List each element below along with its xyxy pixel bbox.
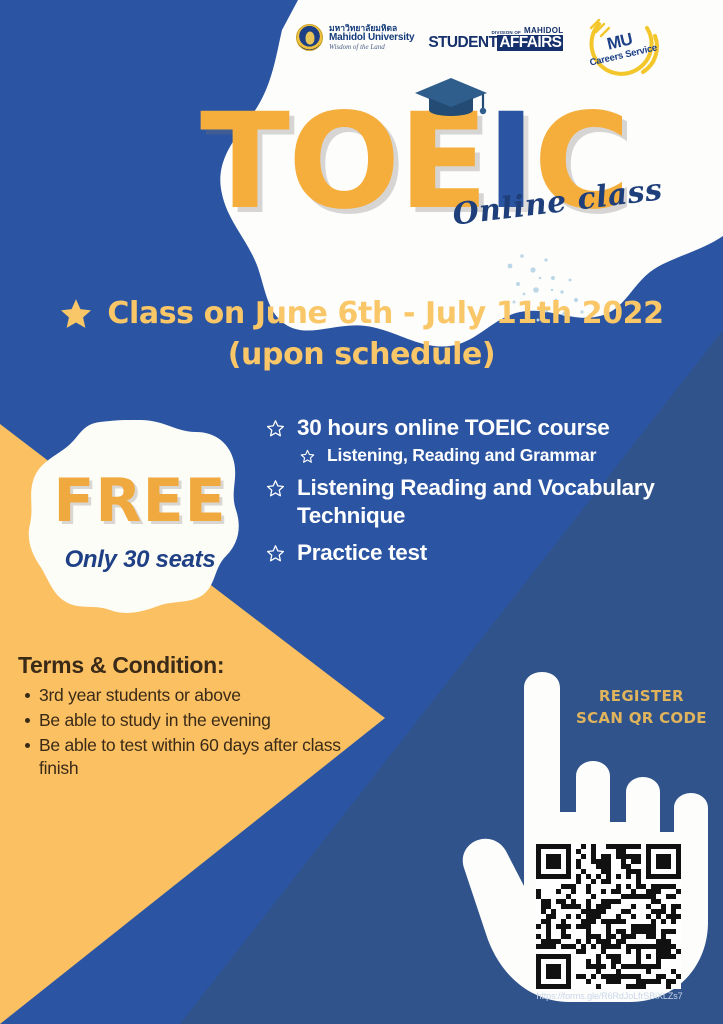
register-line-2: SCAN QR CODE	[576, 708, 707, 730]
feature-list: 30 hours online TOEIC course Listening, …	[266, 414, 712, 571]
qr-code-icon[interactable]	[536, 844, 681, 989]
star-outline-icon	[266, 544, 285, 563]
mu-careers-service-logo: MU Careers Service	[577, 14, 665, 80]
mahidol-english-name: Mahidol University	[329, 33, 414, 44]
schedule-line-1: Class on June 6th - July 11th 2022	[107, 296, 663, 331]
terms-item: Be able to test within 60 days after cla…	[39, 734, 358, 780]
terms-item: Be able to study in the evening	[39, 709, 358, 732]
star-outline-icon	[266, 479, 285, 498]
graduation-cap-icon	[413, 76, 489, 118]
free-badge: FREE Only 30 seats	[24, 418, 256, 618]
star-solid-icon	[59, 297, 93, 331]
feature-item: Listening, Reading and Grammar	[300, 445, 712, 466]
toeic-online-class-poster: มหาวิทยาลัยมหิดล Mahidol University Wisd…	[0, 0, 723, 1024]
terms-heading: Terms & Condition:	[18, 652, 358, 679]
mahidol-university-logo: มหาวิทยาลัยมหิดล Mahidol University Wisd…	[296, 14, 414, 51]
mahidol-seal-icon	[296, 24, 323, 51]
feature-item: Practice test	[266, 539, 712, 566]
free-subline: Only 30 seats	[24, 546, 256, 574]
star-outline-icon	[300, 449, 315, 464]
terms-list: 3rd year students or above Be able to st…	[18, 684, 358, 780]
feature-label: Listening Reading and Vocabulary Techniq…	[297, 474, 712, 529]
toeic-wordmark-block: TOEIC	[0, 96, 723, 246]
terms-block: Terms & Condition: 3rd year students or …	[18, 652, 358, 782]
feature-item: Listening Reading and Vocabulary Techniq…	[266, 474, 712, 529]
register-url[interactable]: https://forms.gle/R6RdJoLfrSBiXLZs7	[496, 991, 723, 1001]
schedule-line-2: (upon schedule)	[0, 337, 723, 372]
feature-label: 30 hours online TOEIC course	[297, 414, 610, 441]
register-line-1: REGISTER	[576, 686, 707, 708]
register-label-block: REGISTER SCAN QR CODE	[576, 686, 707, 730]
feature-item: 30 hours online TOEIC course	[266, 414, 712, 441]
free-headline: FREE	[24, 466, 256, 536]
feature-label: Listening, Reading and Grammar	[327, 445, 596, 466]
mahidol-tagline: Wisdom of the Land	[329, 44, 414, 51]
student-affairs-student: STUDENT	[428, 35, 497, 51]
student-affairs-affairs: AFFAIRS	[497, 35, 563, 51]
student-affairs-logo: DIVISION OF MAHIDOL STUDENT AFFAIRS	[428, 14, 563, 51]
toeic-letter-T: T	[200, 85, 288, 239]
schedule-block: Class on June 6th - July 11th 2022 (upon…	[0, 296, 723, 372]
star-outline-icon	[266, 419, 285, 438]
terms-item: 3rd year students or above	[39, 684, 358, 707]
toeic-letter-O: O	[288, 85, 398, 239]
feature-label: Practice test	[297, 539, 427, 566]
logo-row: มหาวิทยาลัยมหิดล Mahidol University Wisd…	[296, 14, 714, 80]
